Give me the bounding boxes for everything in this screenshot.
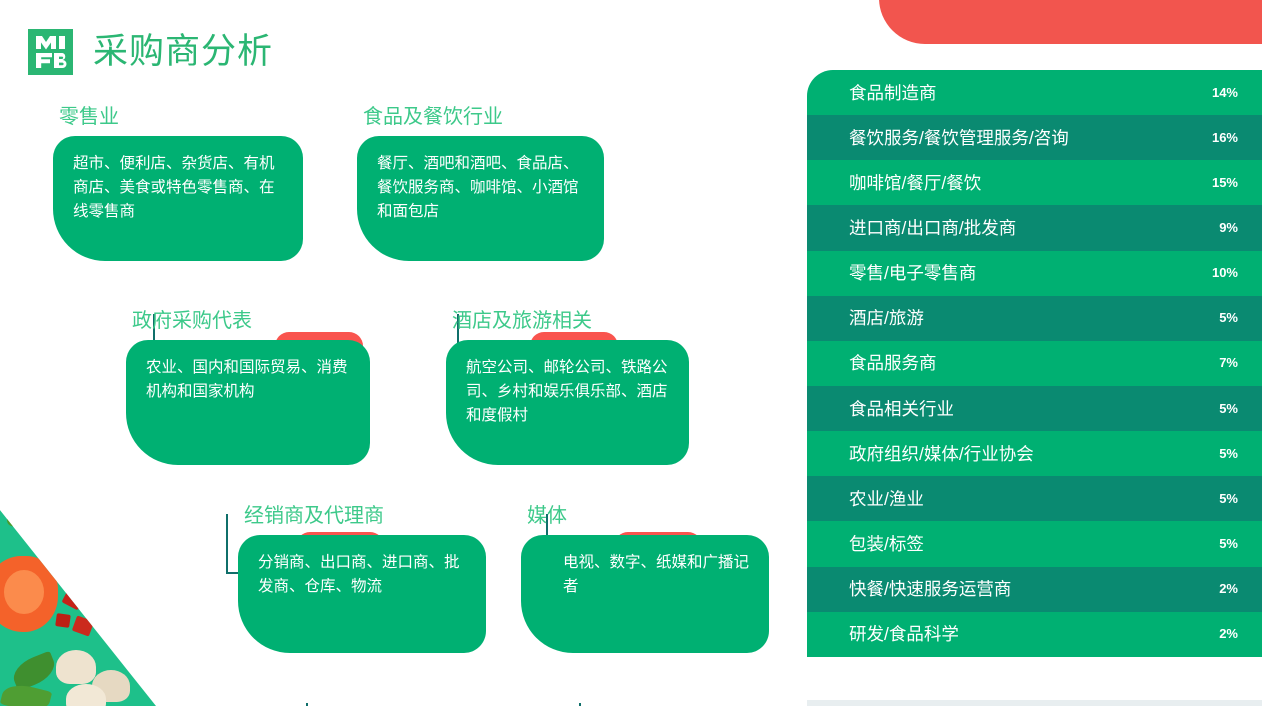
breakdown-row[interactable]: 政府组织/媒体/行业协会5% xyxy=(807,431,1262,476)
green-pepper xyxy=(0,430,75,497)
breakdown-row-percentage: 9% xyxy=(1204,219,1238,237)
breakdown-row-percentage: 5% xyxy=(1204,535,1238,553)
red-accent-banner xyxy=(879,0,1262,44)
diced-tomato xyxy=(87,599,104,615)
breakdown-row-percentage: 5% xyxy=(1204,309,1238,327)
peppercorn xyxy=(86,550,91,555)
breakdown-row-percentage: 5% xyxy=(1204,445,1238,463)
card-food-beverage-title: 食品及餐饮行业 xyxy=(363,104,503,130)
card-government-title: 政府采购代表 xyxy=(132,308,252,334)
card-hotel-travel-body: 航空公司、邮轮公司、铁路公司、乡村和娱乐俱乐部、酒店和度假村 xyxy=(446,340,689,465)
breakdown-row-percentage: 2% xyxy=(1204,580,1238,598)
breakdown-row-percentage: 2% xyxy=(1204,625,1238,643)
page-title: 采购商分析 xyxy=(93,30,273,74)
breakdown-row[interactable]: 进口商/出口商/批发商9% xyxy=(807,205,1262,250)
pasta-pile xyxy=(186,656,282,706)
breakdown-row-label: 研发/食品科学 xyxy=(849,623,1204,645)
breakdown-row-label: 农业/渔业 xyxy=(849,488,1204,510)
breakdown-row[interactable]: 食品服务商7% xyxy=(807,341,1262,386)
mushroom xyxy=(66,684,106,706)
green-pepper xyxy=(16,456,107,506)
breakdown-row-percentage: 5% xyxy=(1204,490,1238,508)
tomato-slice xyxy=(128,618,200,686)
red-bell-pepper-inner xyxy=(4,570,44,614)
panel-bottom-edge xyxy=(807,700,1262,706)
tomato-slice-inner xyxy=(146,636,182,670)
diced-tomato xyxy=(55,613,71,628)
card-media-title: 媒体 xyxy=(527,503,567,529)
breakdown-row-label: 政府组织/媒体/行业协会 xyxy=(849,443,1204,465)
card-distributors-body: 分销商、出口商、进口商、批发商、仓库、物流 xyxy=(238,535,486,653)
breakdown-row-label: 快餐/快速服务运营商 xyxy=(849,578,1204,600)
breakdown-row[interactable]: 酒店/旅游5% xyxy=(807,296,1262,341)
card-government-body: 农业、国内和国际贸易、消费机构和国家机构 xyxy=(126,340,370,465)
breakdown-row-label: 食品服务商 xyxy=(849,352,1204,374)
diced-tomato xyxy=(59,564,78,581)
breakdown-row-label: 咖啡馆/餐厅/餐饮 xyxy=(849,172,1204,194)
diced-tomato xyxy=(96,615,116,635)
breakdown-row-percentage: 7% xyxy=(1204,354,1238,372)
card-retail-body: 超市、便利店、杂货店、有机商店、美食或特色零售商、在线零售商 xyxy=(53,136,303,261)
breakdown-row-percentage: 16% xyxy=(1204,129,1238,147)
breakdown-row-label: 零售/电子零售商 xyxy=(849,262,1204,284)
card-distributors-title: 经销商及代理商 xyxy=(244,503,384,529)
breakdown-row-percentage: 10% xyxy=(1204,264,1238,282)
basil-leaf xyxy=(193,674,240,706)
green-pepper xyxy=(0,473,74,535)
tomato-half xyxy=(120,556,182,622)
breakdown-row-label: 食品制造商 xyxy=(849,82,1204,104)
diced-tomato xyxy=(80,572,101,592)
breakdown-row[interactable]: 农业/渔业5% xyxy=(807,476,1262,521)
mifb-logo xyxy=(28,29,73,75)
peppercorn xyxy=(76,558,81,563)
mushroom xyxy=(56,650,96,684)
breakdown-row[interactable]: 零售/电子零售商10% xyxy=(807,251,1262,296)
breakdown-row-label: 进口商/出口商/批发商 xyxy=(849,217,1204,239)
breakdown-row[interactable]: 餐饮服务/餐饮管理服务/咨询16% xyxy=(807,115,1262,160)
breakdown-row-percentage: 15% xyxy=(1204,174,1238,192)
breakdown-row[interactable]: 食品相关行业5% xyxy=(807,386,1262,431)
breakdown-row[interactable]: 包装/标签5% xyxy=(807,521,1262,566)
breakdown-row-label: 酒店/旅游 xyxy=(849,307,1204,329)
card-retail-title: 零售业 xyxy=(59,104,119,130)
slide-root: 采购商分析 零售业 超市、便利店、杂货店、有机商店、美食或特色零售商、在线零售商… xyxy=(0,0,1262,706)
peppercorn xyxy=(94,560,99,565)
breakdown-row[interactable]: 食品制造商14% xyxy=(807,70,1262,115)
rosemary-sprig xyxy=(57,485,144,549)
breakdown-row[interactable]: 快餐/快速服务运营商2% xyxy=(807,567,1262,612)
breakdown-row[interactable]: 咖啡馆/餐厅/餐饮15% xyxy=(807,160,1262,205)
breakdown-row-percentage: 14% xyxy=(1204,84,1238,102)
green-pepper xyxy=(38,420,99,477)
breakdown-row-label: 餐饮服务/餐饮管理服务/咨询 xyxy=(849,127,1204,149)
breakdown-row-percentage: 5% xyxy=(1204,400,1238,418)
peppercorn xyxy=(66,552,71,557)
card-hotel-travel-title: 酒店及旅游相关 xyxy=(452,308,592,334)
breakdown-row[interactable]: 研发/食品科学2% xyxy=(807,612,1262,657)
breakdown-row-label: 包装/标签 xyxy=(849,533,1204,555)
card-media-body: 电视、数字、纸媒和广播记者 xyxy=(521,535,769,653)
peppercorn xyxy=(58,564,63,569)
buyer-breakdown-list: 食品制造商14%餐饮服务/餐饮管理服务/咨询16%咖啡馆/餐厅/餐饮15%进口商… xyxy=(807,70,1262,702)
breakdown-row-label: 食品相关行业 xyxy=(849,398,1204,420)
card-food-beverage-body: 餐厅、酒吧和酒吧、食品店、餐饮服务商、咖啡馆、小酒馆和面包店 xyxy=(357,136,604,261)
